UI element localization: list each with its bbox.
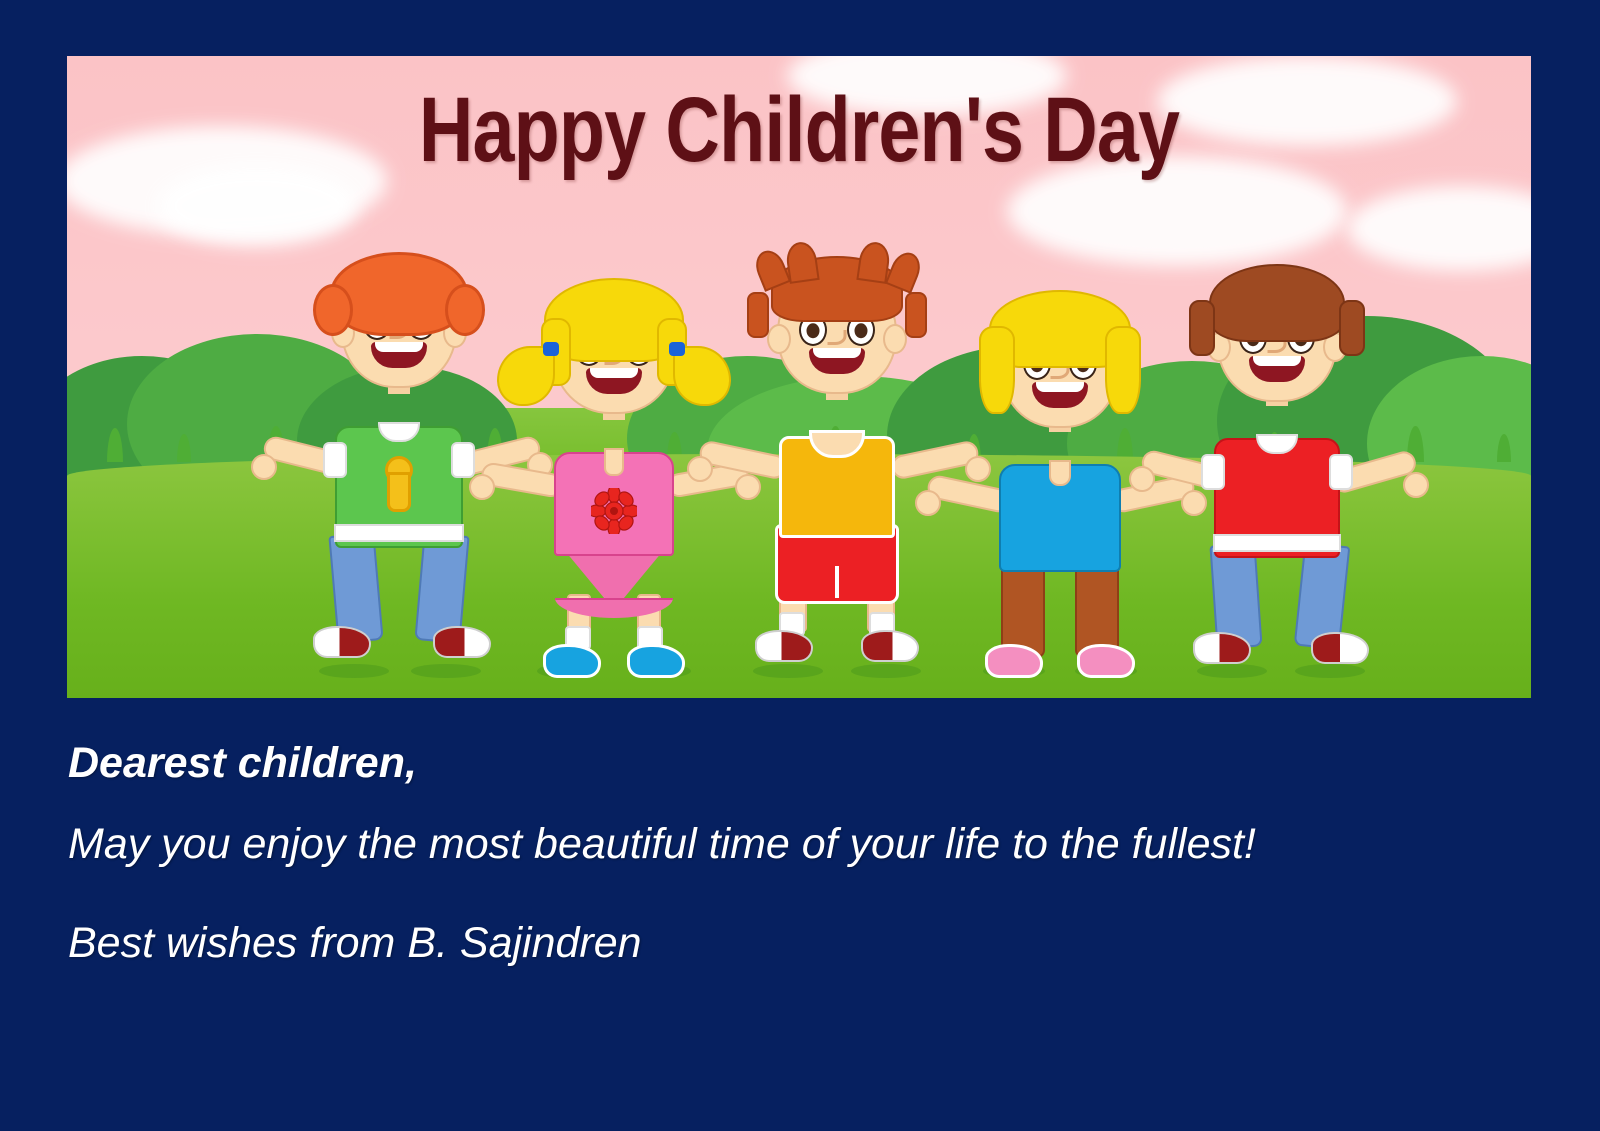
child-figure-5 [1179, 266, 1375, 676]
sleeve-cuff-right [1329, 454, 1353, 490]
shoe-left [755, 630, 813, 662]
child-figure-3 [739, 256, 935, 676]
hair-side-right [1339, 300, 1365, 356]
message-greeting: Dearest children, [68, 742, 1368, 785]
figure-shadow [411, 664, 481, 678]
tunic-collar [1049, 460, 1071, 486]
child-figure-2 [519, 276, 709, 676]
shoe-left [543, 644, 601, 678]
teeth [375, 342, 423, 352]
ear-right [883, 324, 907, 354]
shoe-right [433, 626, 491, 658]
mouth [1249, 356, 1305, 382]
figure-shadow [753, 664, 823, 678]
shoe-left [1193, 632, 1251, 664]
shoe-right [861, 630, 919, 662]
teeth [813, 348, 861, 358]
mouth [371, 342, 427, 368]
teeth [590, 368, 638, 378]
hand-left [1129, 466, 1155, 492]
teeth [1253, 356, 1301, 366]
hair-bob-left [979, 326, 1015, 414]
sleeve-cuff-left [1201, 454, 1225, 490]
message-body: May you enjoy the most beautiful time of… [68, 823, 1368, 866]
child-figure-1 [299, 256, 499, 676]
hair-tie-left [543, 342, 559, 356]
figure-shadow [1295, 664, 1365, 678]
hair-tie-right [669, 342, 685, 356]
child-figure-4 [967, 286, 1153, 676]
figure-shadow [319, 664, 389, 678]
figure-shadow [1197, 664, 1267, 678]
shoe-right [1311, 632, 1369, 664]
card-title: Happy Children's Day [199, 82, 1399, 179]
hand-left [915, 490, 941, 516]
hair-brown [1209, 264, 1345, 342]
keyhole-emblem-stem [387, 472, 411, 512]
blouse-collar [604, 448, 624, 476]
hand-right [1181, 490, 1207, 516]
sleeve-cuff-left [323, 442, 347, 478]
hair-sideburn-right [905, 292, 927, 338]
shirt-hem [334, 524, 464, 542]
shorts-split [835, 566, 839, 598]
hand-left [687, 456, 713, 482]
nose [828, 330, 847, 345]
hair-curl-right [445, 284, 485, 336]
hair-side-left [1189, 300, 1215, 356]
shoe-right [627, 644, 685, 678]
mouth [586, 368, 642, 394]
message-signoff: Best wishes from B. Sajindren [68, 922, 1368, 965]
hand-left [469, 474, 495, 500]
hair-bob-right [1105, 326, 1141, 414]
pupil [807, 323, 820, 338]
teeth [1036, 382, 1084, 392]
shoe-left [313, 626, 371, 658]
leg-right [1075, 558, 1119, 658]
shoe-left [985, 644, 1043, 678]
message-block: Dearest children, May you enjoy the most… [68, 742, 1368, 965]
childrens-day-banner-image: Happy Children's Day [67, 56, 1531, 698]
hair-sideburn-left [747, 292, 769, 338]
mouth [809, 348, 865, 374]
hand-right [1403, 472, 1429, 498]
figure-shadow [851, 664, 921, 678]
leg-left [1001, 558, 1045, 658]
hand-right [735, 474, 761, 500]
pupil [855, 323, 868, 338]
shoe-right [1077, 644, 1135, 678]
hand-left [251, 454, 277, 480]
ear-left [767, 324, 791, 354]
hair-curl-left [313, 284, 353, 336]
sleeve-cuff-right [451, 442, 475, 478]
hand-right [965, 456, 991, 482]
mouth [1032, 382, 1088, 408]
shirt-hem [1213, 534, 1341, 552]
flower-emblem-icon [591, 488, 637, 534]
